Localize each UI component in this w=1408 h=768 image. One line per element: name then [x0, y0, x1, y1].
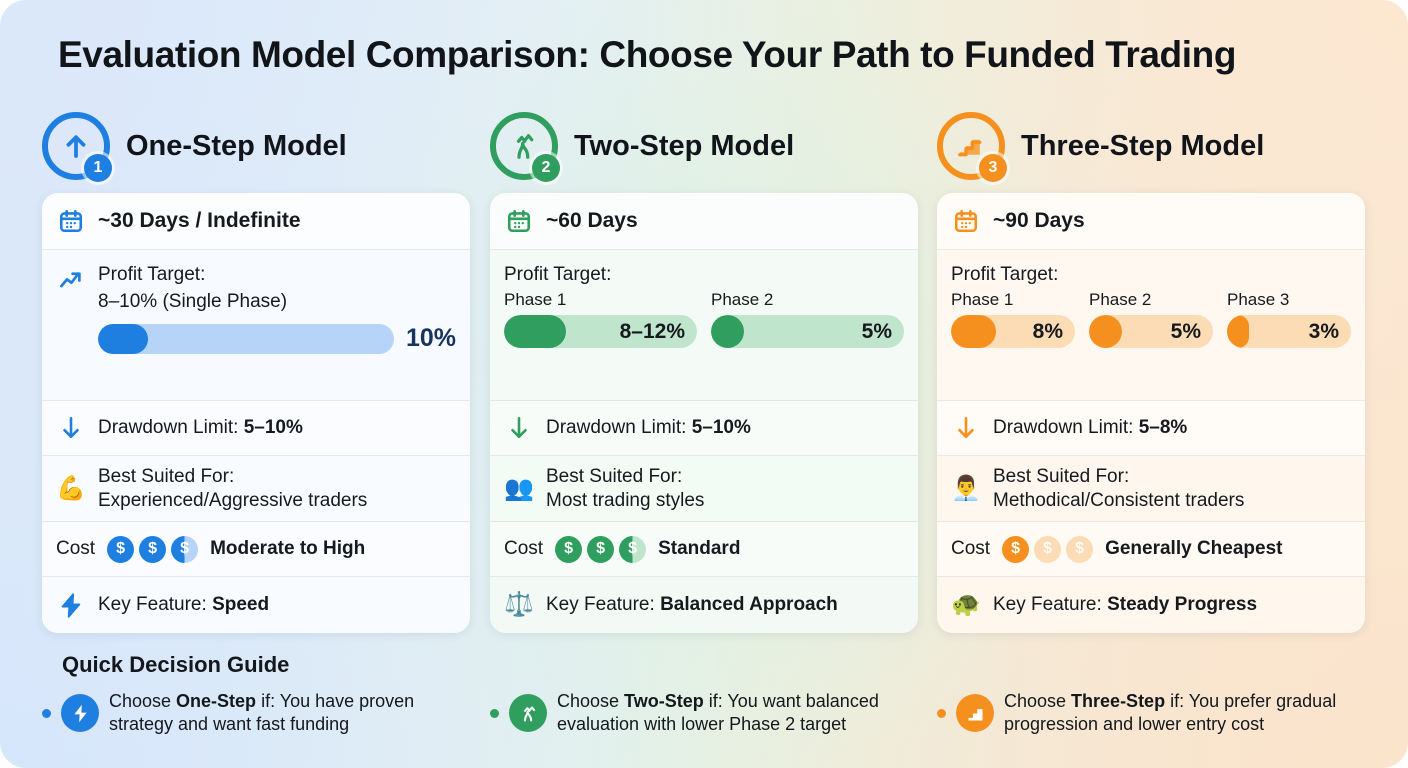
- phase-value: 3%: [1309, 320, 1351, 344]
- column-header-3: 3Three-Step Model: [937, 112, 1264, 180]
- phase-progress-bar: 3%: [1227, 315, 1351, 348]
- key-feature-text: Key Feature: Balanced Approach: [546, 593, 838, 617]
- cost-value: Moderate to High: [210, 538, 365, 560]
- drawdown-row: Drawdown Limit: 5–10%: [490, 401, 918, 456]
- guide-item-2: Choose Two-Step if: You want balanced ev…: [490, 690, 920, 736]
- flexing-person-icon: 💪: [56, 477, 86, 501]
- down-arrow-icon: [56, 414, 86, 442]
- phase-item: Phase 33%: [1227, 290, 1351, 348]
- model-card-3: ~90 DaysProfit Target:Phase 18%Phase 25%…: [937, 193, 1365, 633]
- progress-fill: [1089, 315, 1122, 348]
- cost-row: Cost$$$Generally Cheapest: [937, 522, 1365, 577]
- best-suited-row: 👨‍💼Best Suited For:Methodical/Consistent…: [937, 456, 1365, 522]
- drawdown-text: Drawdown Limit: 5–8%: [993, 416, 1187, 440]
- phase-item: Phase 18%: [951, 290, 1075, 348]
- drawdown-text: Drawdown Limit: 5–10%: [546, 416, 751, 440]
- progress-fill: [951, 315, 996, 348]
- drawdown-row: Drawdown Limit: 5–8%: [937, 401, 1365, 456]
- model-card-1: ~30 Days / IndefiniteProfit Target:8–10%…: [42, 193, 470, 633]
- phase-progress-bar: 8%: [951, 315, 1075, 348]
- step-number-badge: 2: [532, 154, 560, 182]
- best-suited-text: Best Suited For:Experienced/Aggressive t…: [98, 465, 367, 513]
- cost-coins: $$$: [555, 536, 646, 563]
- profit-subtext: 8–10% (Single Phase): [98, 290, 456, 314]
- cost-coin-icon: $: [107, 536, 134, 563]
- people-group-icon: 👥: [504, 477, 534, 501]
- profit-target-value: 10%: [406, 324, 456, 353]
- phase-item: Phase 25%: [711, 290, 904, 348]
- phase-bars: Phase 18%Phase 25%Phase 33%: [951, 290, 1351, 348]
- guide-item-3: Choose Three-Step if: You prefer gradual…: [937, 690, 1377, 736]
- profit-target-row: Profit Target:Phase 18%Phase 25%Phase 33…: [937, 250, 1365, 401]
- profit-target-row: Profit Target:8–10% (Single Phase)10%: [42, 250, 470, 401]
- duration-row: ~30 Days / Indefinite: [42, 193, 470, 250]
- model-icon-wrap: 2: [490, 112, 558, 180]
- infographic-root: Evaluation Model Comparison: Choose Your…: [0, 0, 1408, 768]
- phase-progress-bar: 8–12%: [504, 315, 697, 348]
- trending-up-icon: [56, 266, 86, 294]
- profit-target-label: Profit Target:: [98, 264, 456, 286]
- best-suited-row: 👥Best Suited For:Most trading styles: [490, 456, 918, 522]
- model-icon-wrap: 1: [42, 112, 110, 180]
- cost-label: Cost: [56, 538, 95, 560]
- stairs-icon: [956, 694, 994, 732]
- cost-label: Cost: [951, 538, 990, 560]
- key-feature-row: 🐢Key Feature: Steady Progress: [937, 577, 1365, 633]
- column-header-1: 1One-Step Model: [42, 112, 347, 180]
- duration-row: ~60 Days: [490, 193, 918, 250]
- model-card-2: ~60 DaysProfit Target:Phase 18–12%Phase …: [490, 193, 918, 633]
- model-title: Three-Step Model: [1021, 130, 1264, 163]
- turtle-icon: 🐢: [951, 593, 981, 617]
- guide-item-1: Choose One-Step if: You have proven stra…: [42, 690, 462, 736]
- cost-coin-icon: $: [139, 536, 166, 563]
- guide-text: Choose Three-Step if: You prefer gradual…: [1004, 690, 1377, 736]
- cost-coin-icon: $: [1066, 536, 1093, 563]
- duration-value: ~90 Days: [993, 209, 1085, 233]
- profit-target-label: Profit Target:: [951, 264, 1351, 286]
- phase-label: Phase 2: [1089, 290, 1213, 310]
- key-feature-text: Key Feature: Speed: [98, 593, 269, 617]
- quick-decision-guide-heading: Quick Decision Guide: [62, 652, 289, 678]
- cost-coins: $$$: [1002, 536, 1093, 563]
- phase-item: Phase 18–12%: [504, 290, 697, 348]
- cost-coin-icon: $: [619, 536, 646, 563]
- cost-value: Standard: [658, 538, 740, 560]
- profit-target-row: Profit Target:Phase 18–12%Phase 25%: [490, 250, 918, 401]
- cost-value: Generally Cheapest: [1105, 538, 1282, 560]
- profit-bar-wrap: 10%: [98, 324, 456, 354]
- key-feature-row: ⚖️Key Feature: Balanced Approach: [490, 577, 918, 633]
- profit-target-label: Profit Target:: [504, 264, 904, 286]
- model-title: One-Step Model: [126, 130, 347, 163]
- business-person-icon: 👨‍💼: [951, 477, 981, 501]
- progress-fill: [504, 315, 566, 348]
- progress-fill: [711, 315, 744, 348]
- phase-label: Phase 1: [951, 290, 1075, 310]
- best-suited-text: Best Suited For:Most trading styles: [546, 465, 704, 513]
- cost-coin-icon: $: [555, 536, 582, 563]
- calendar-icon: [56, 207, 86, 235]
- page-title: Evaluation Model Comparison: Choose Your…: [58, 34, 1236, 76]
- duration-value: ~30 Days / Indefinite: [98, 209, 301, 233]
- phase-bars: Phase 18–12%Phase 25%: [504, 290, 904, 348]
- balance-scale-icon: ⚖️: [504, 593, 534, 617]
- progress-fill: [98, 324, 148, 354]
- phase-item: Phase 25%: [1089, 290, 1213, 348]
- phase-progress-bar: 5%: [1089, 315, 1213, 348]
- phase-label: Phase 2: [711, 290, 904, 310]
- progress-fill: [1227, 315, 1249, 348]
- cost-coin-icon: $: [1034, 536, 1061, 563]
- phase-label: Phase 1: [504, 290, 697, 310]
- cost-coin-icon: $: [1002, 536, 1029, 563]
- cost-row: Cost$$$Moderate to High: [42, 522, 470, 577]
- model-title: Two-Step Model: [574, 130, 794, 163]
- bullet-dot-icon: [490, 709, 499, 718]
- key-feature-text: Key Feature: Steady Progress: [993, 593, 1257, 617]
- cost-coins: $$$: [107, 536, 198, 563]
- down-arrow-icon: [951, 414, 981, 442]
- cost-row: Cost$$$Standard: [490, 522, 918, 577]
- phase-value: 5%: [862, 320, 904, 344]
- bullet-dot-icon: [937, 709, 946, 718]
- phase-label: Phase 3: [1227, 290, 1351, 310]
- step-number-badge: 1: [84, 154, 112, 182]
- down-arrow-icon: [504, 414, 534, 442]
- model-icon-wrap: 3: [937, 112, 1005, 180]
- lightning-bolt-icon: [56, 591, 86, 619]
- drawdown-text: Drawdown Limit: 5–10%: [98, 416, 303, 440]
- duration-value: ~60 Days: [546, 209, 638, 233]
- lightning-bolt-icon: [61, 694, 99, 732]
- cost-label: Cost: [504, 538, 543, 560]
- column-header-2: 2Two-Step Model: [490, 112, 794, 180]
- calendar-icon: [951, 207, 981, 235]
- bullet-dot-icon: [42, 709, 51, 718]
- guide-text: Choose One-Step if: You have proven stra…: [109, 690, 462, 736]
- branching-arrows-icon: [509, 694, 547, 732]
- best-suited-row: 💪Best Suited For:Experienced/Aggressive …: [42, 456, 470, 522]
- phase-value: 5%: [1171, 320, 1213, 344]
- cost-coin-icon: $: [587, 536, 614, 563]
- step-number-badge: 3: [979, 154, 1007, 182]
- phase-value: 8%: [1033, 320, 1075, 344]
- key-feature-row: Key Feature: Speed: [42, 577, 470, 633]
- drawdown-row: Drawdown Limit: 5–10%: [42, 401, 470, 456]
- best-suited-text: Best Suited For:Methodical/Consistent tr…: [993, 465, 1244, 513]
- profit-progress-bar: [98, 324, 394, 354]
- duration-row: ~90 Days: [937, 193, 1365, 250]
- phase-value: 8–12%: [620, 320, 697, 344]
- guide-text: Choose Two-Step if: You want balanced ev…: [557, 690, 920, 736]
- phase-progress-bar: 5%: [711, 315, 904, 348]
- calendar-icon: [504, 207, 534, 235]
- cost-coin-icon: $: [171, 536, 198, 563]
